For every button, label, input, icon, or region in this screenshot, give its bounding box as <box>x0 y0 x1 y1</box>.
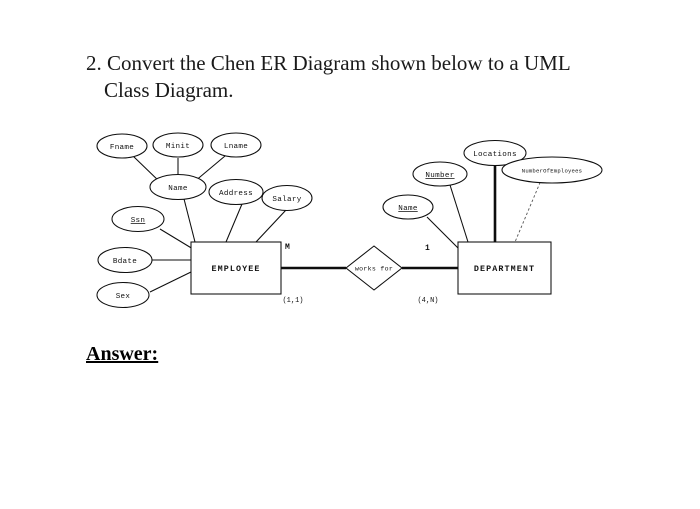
attribute-name-employee[interactable]: Name <box>150 175 206 200</box>
connector-address-employee <box>226 204 242 242</box>
cardinality-department: 1 <box>425 244 430 253</box>
constraint-department: (4,N) <box>417 297 438 305</box>
attribute-bdate-label: Bdate <box>113 258 137 266</box>
answer-block: Answer: <box>86 343 158 366</box>
attribute-sex-label: Sex <box>116 293 131 301</box>
attribute-number-label: Number <box>425 172 454 180</box>
attribute-salary-label: Salary <box>272 196 301 204</box>
attribute-fname-label: Fname <box>110 144 134 152</box>
attribute-name-employee-label: Name <box>168 185 188 193</box>
question-line-2: Class Diagram. <box>86 77 616 104</box>
attribute-bdate[interactable]: Bdate <box>98 248 152 273</box>
attribute-sex[interactable]: Sex <box>97 283 149 308</box>
connector-numberofemployees-department <box>515 178 542 242</box>
cardinality-employee: M <box>285 243 290 252</box>
attribute-numberofemployees-label: NumberOfEmployees <box>522 168 582 175</box>
relationship-works-for[interactable]: works for <box>346 246 402 290</box>
attribute-address-label: Address <box>219 190 253 198</box>
attribute-fname[interactable]: Fname <box>97 134 147 158</box>
question-block: 2. Convert the Chen ER Diagram shown bel… <box>86 50 616 104</box>
attribute-address[interactable]: Address <box>209 180 263 205</box>
connector-salary-employee <box>256 210 286 242</box>
connector-name-employee <box>183 195 195 242</box>
relationship-works-for-label: works for <box>355 266 393 273</box>
attribute-ssn-label: Ssn <box>131 217 146 225</box>
er-diagram: Fname Minit Lname Name Address Salary Ss… <box>90 122 610 317</box>
attribute-ssn[interactable]: Ssn <box>112 207 164 232</box>
entity-department[interactable]: DEPARTMENT <box>458 242 551 294</box>
attribute-salary[interactable]: Salary <box>262 186 312 211</box>
entity-employee-label: EMPLOYEE <box>211 264 260 274</box>
attribute-minit-label: Minit <box>166 143 190 151</box>
attribute-locations-label: Locations <box>473 151 517 159</box>
attribute-name-department[interactable]: Name <box>383 195 433 219</box>
connector-sex-employee <box>150 272 191 292</box>
entity-department-label: DEPARTMENT <box>474 264 535 274</box>
connector-number-department <box>450 185 468 242</box>
attribute-name-department-label: Name <box>398 205 418 213</box>
connector-ssn-employee <box>160 229 193 249</box>
attribute-lname-label: Lname <box>224 143 248 151</box>
constraint-employee: (1,1) <box>282 297 303 305</box>
attribute-number[interactable]: Number <box>413 162 467 186</box>
attribute-lname[interactable]: Lname <box>211 133 261 157</box>
attribute-numberofemployees[interactable]: NumberOfEmployees <box>502 157 602 183</box>
attribute-minit[interactable]: Minit <box>153 133 203 157</box>
entity-employee[interactable]: EMPLOYEE <box>191 242 281 294</box>
question-line-1: 2. Convert the Chen ER Diagram shown bel… <box>86 50 616 77</box>
connector-name-department <box>427 217 460 250</box>
answer-label: Answer: <box>86 343 158 365</box>
